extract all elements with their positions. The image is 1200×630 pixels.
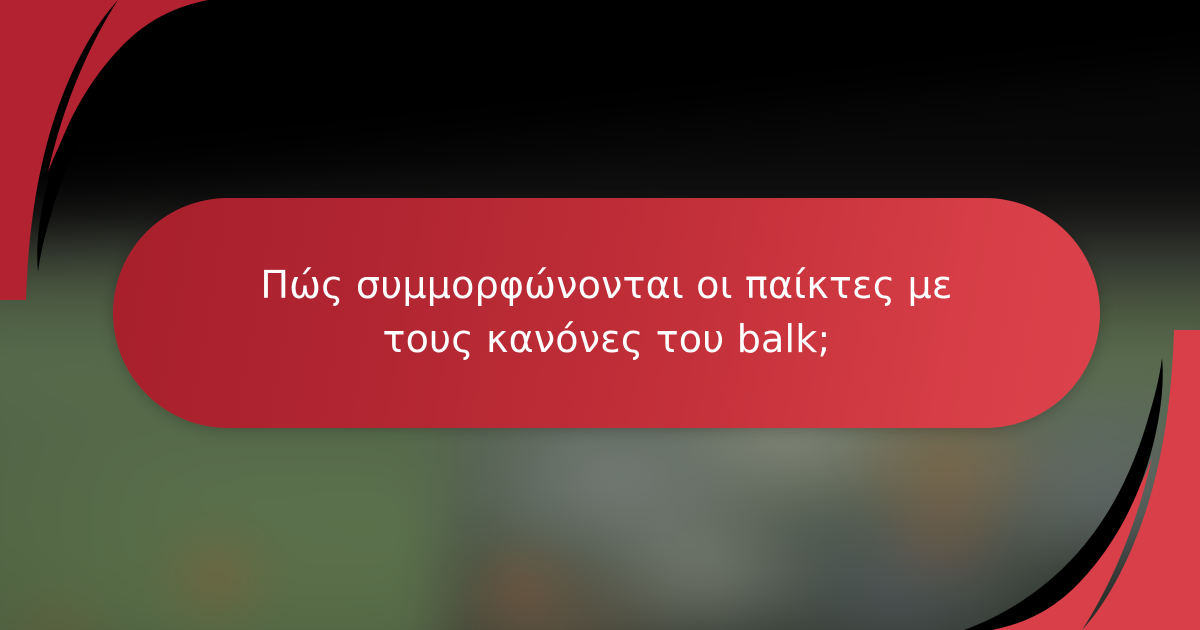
question-card: Πώς συμμορφώνονται οι παίκτες με τους κα… [113,198,1100,428]
share-card-canvas: Πώς συμμορφώνονται οι παίκτες με τους κα… [0,0,1200,630]
question-text: Πώς συμμορφώνονται οι παίκτες με τους κα… [207,259,1007,367]
